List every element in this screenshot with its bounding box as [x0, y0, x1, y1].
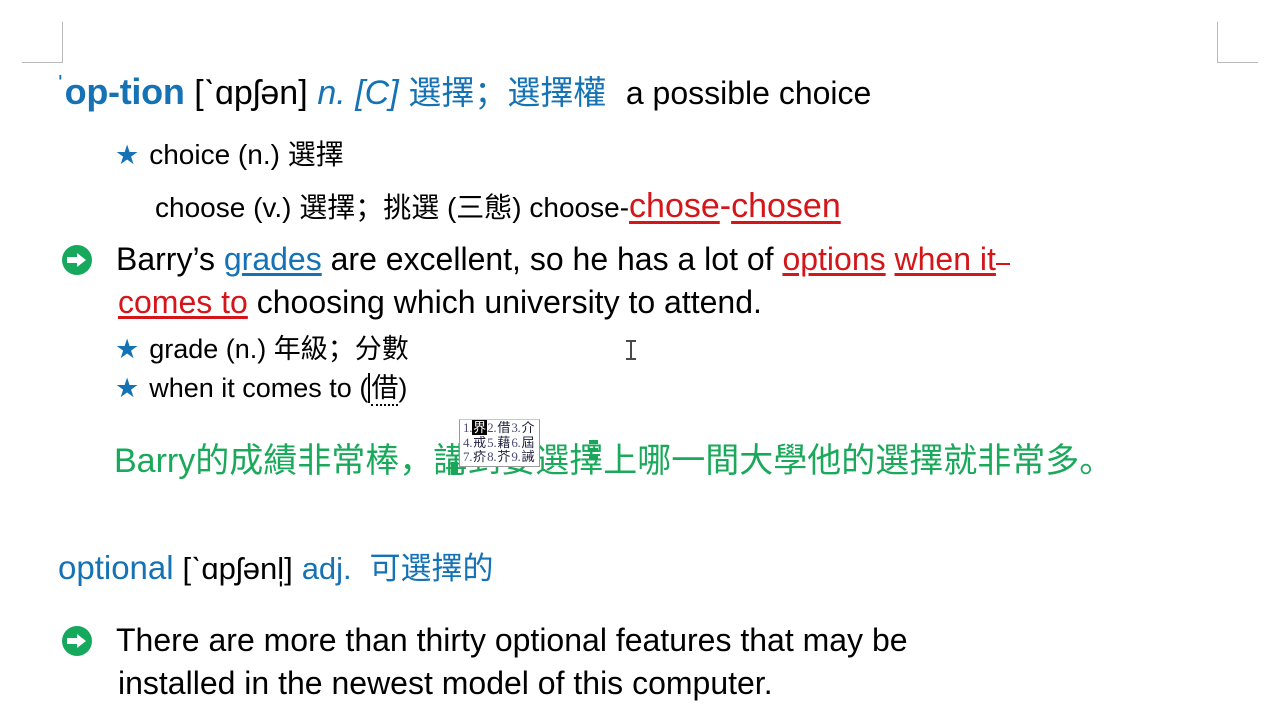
headword2-word: optional: [58, 549, 174, 586]
ime-candidate-char[interactable]: 誡: [521, 449, 536, 464]
arrow-right-circle-icon: [62, 626, 92, 656]
example-sentence-2-line2: installed in the newest model of this co…: [118, 665, 773, 702]
crop-mark-top-right: [1217, 22, 1258, 63]
ime-candidate-popup[interactable]: 1.界2.借3.介 4.戒5.藉6.屆 7.疥8.芥9.誡: [459, 419, 540, 467]
ime-candidate-number: 7.: [463, 449, 472, 464]
example-sentence-1-line2: comes to choosing which university to at…: [118, 284, 762, 321]
verb-form-separator: -: [720, 187, 731, 225]
ime-candidate-number: 8.: [487, 449, 496, 464]
chinese-translation: Barry的成績非常棒，講到要選擇上哪一間大學他的選擇就非常多。: [114, 435, 1224, 487]
headword-cn-meaning: 選擇；選擇權: [408, 74, 606, 111]
ex1-keyword-whenit: when it: [895, 241, 996, 277]
headword2-line: optional [ˋɑpʃənl̩] adj. 可選擇的: [58, 551, 493, 584]
ex1-space: [886, 241, 895, 277]
verb-form-past: chose: [629, 187, 720, 225]
chinese-translation-line1: Barry的成績非常棒，講到要選擇上哪一間大學他的選擇就非: [114, 442, 1011, 480]
ex1-trailing-underline: [996, 263, 1010, 265]
ex1-pre: Barry’s: [116, 241, 224, 277]
ex1-keyword-options: options: [782, 241, 885, 277]
sub-entry-grade-text: grade (n.) 年級；分數: [149, 334, 409, 364]
example-sentence-1: Barry’s grades are excellent, so he has …: [62, 234, 1242, 284]
sub-entry-grade: ★grade (n.) 年級；分數: [115, 336, 409, 363]
ime-composition-text[interactable]: 借: [371, 373, 398, 406]
sub-entry-choice: ★choice (n.) 選擇: [115, 141, 344, 169]
sub-entry-when-it-comes-to: ★when it comes to (借): [115, 373, 407, 403]
ime-candidate-number: 3.: [511, 420, 520, 435]
ime-status-indicator-icon: [589, 440, 598, 474]
ime-candidate-number: 2.: [487, 420, 496, 435]
star-bullet-icon: ★: [115, 373, 139, 403]
text-caret: [368, 373, 370, 403]
star-bullet-icon: ★: [115, 334, 139, 364]
stress-mark: ˈ: [56, 70, 65, 100]
ex1-keyword-grades: grades: [224, 241, 322, 277]
text-ibeam-cursor: [626, 340, 636, 360]
example-sentence-2: There are more than thirty optional feat…: [62, 615, 1212, 665]
ime-candidate-char[interactable]: 借: [496, 420, 511, 435]
arrow-right-circle-icon: [62, 245, 92, 275]
star-bullet-icon: ★: [115, 140, 139, 170]
ex2-line1: There are more than thirty optional feat…: [116, 622, 908, 658]
ime-candidate-char[interactable]: 戒: [472, 435, 487, 450]
headword2-cn-meaning: 可選擇的: [369, 551, 493, 586]
headword-word: op-tion: [65, 71, 185, 112]
headword-en-definition: a possible choice: [626, 75, 871, 111]
sub-entry-wict-prefix: when it comes to (: [149, 373, 368, 403]
ime-candidate-char[interactable]: 芥: [496, 449, 511, 464]
ime-candidate-number: 1.: [463, 420, 472, 435]
sub-entry-choice-text: choice (n.) 選擇: [149, 139, 344, 170]
ime-candidate-number: 4.: [463, 435, 472, 450]
ime-candidate-number: 5.: [487, 435, 496, 450]
verb-form-participle: chosen: [731, 187, 841, 225]
ime-candidate-char[interactable]: 界: [472, 420, 487, 435]
ime-candidate-number: 9.: [511, 449, 520, 464]
ime-candidate-row: 7.疥8.芥9.誡: [463, 450, 536, 465]
ex1-line2-rest: choosing which university to attend.: [248, 284, 762, 320]
ime-candidate-number: 6.: [511, 435, 520, 450]
sub-entry-choose-lead: choose (v.) 選擇；挑選 (三態) choose-: [155, 192, 629, 223]
headword-pos: n. [C]: [317, 74, 398, 112]
ex1-keyword-comesto: comes to: [118, 284, 248, 320]
sub-entry-wict-suffix: ): [398, 373, 407, 403]
slide-canvas: ˈop-tion [ˋɑpʃən] n. [C] 選擇；選擇權 a possib…: [0, 0, 1280, 720]
headword2-pos: adj.: [302, 551, 352, 586]
ex1-mid: are excellent, so he has a lot of: [322, 241, 783, 277]
ime-candidate-char[interactable]: 藉: [496, 435, 511, 450]
headword2-ipa: [ˋɑpʃənl̩]: [183, 551, 293, 586]
ime-popup-drag-handle[interactable]: [451, 462, 458, 475]
headword-line: ˈop-tion [ˋɑpʃən] n. [C] 選擇；選擇權 a possib…: [56, 72, 871, 110]
ime-candidate-row: 1.界2.借3.介: [463, 421, 536, 436]
headword-ipa: [ˋɑpʃən]: [194, 74, 307, 112]
ime-candidate-char[interactable]: 疥: [472, 449, 487, 464]
ime-candidate-row: 4.戒5.藉6.屆: [463, 436, 536, 451]
ime-candidate-char[interactable]: 介: [521, 420, 536, 435]
sub-entry-choose: choose (v.) 選擇；挑選 (三態) choose-chose-chos…: [155, 189, 841, 223]
crop-mark-top-left: [22, 22, 63, 63]
chinese-translation-line2: 常多。: [1011, 442, 1113, 480]
ime-candidate-char[interactable]: 屆: [521, 435, 536, 450]
